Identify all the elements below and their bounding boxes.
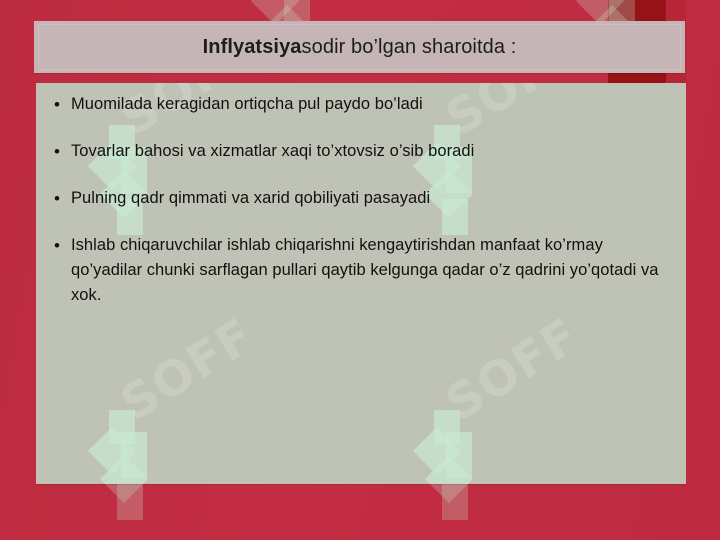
title-emphasis: Inflyatsiya [203,36,302,59]
page-title: Inflyatsiya sodir bo’lgan sharoitda : [34,21,685,73]
bullet-marker-icon: • [46,92,71,117]
list-item: • Tovarlar bahosi va xizmatlar xaqi to’x… [46,139,672,164]
list-item-text: Pulning qadr qimmati va xarid qobiliyati… [71,186,672,211]
soff-logo-icon [420,410,494,484]
title-rest: sodir bo’lgan sharoitda : [302,36,517,59]
bullet-marker-icon: • [46,233,71,258]
watermark-text: SOFF [436,308,589,432]
list-item: • Muomilada keragidan ortiqcha pul paydo… [46,92,672,117]
list-item-text: Tovarlar bahosi va xizmatlar xaqi to’xto… [71,139,672,164]
watermark-mark: SOFF [420,380,550,484]
slide-canvas: SOFF SOFF SOFF SOFF Inflyatsiya sodir bo… [0,0,720,540]
bullet-list: • Muomilada keragidan ortiqcha pul paydo… [36,83,686,308]
soff-logo-icon [95,410,169,484]
bullet-marker-icon: • [46,186,71,211]
list-item: • Ishlab chiqaruvchilar ishlab chiqarish… [46,233,672,308]
watermark-text: SOFF [111,308,264,432]
list-item-text: Muomilada keragidan ortiqcha pul paydo b… [71,92,672,117]
list-item: • Pulning qadr qimmati va xarid qobiliya… [46,186,672,211]
slide-content-plate: SOFF SOFF SOFF SOFF [36,83,686,484]
list-item-text: Ishlab chiqaruvchilar ishlab chiqarishni… [71,233,672,308]
slide-title-plate: Inflyatsiya sodir bo’lgan sharoitda : [34,21,685,73]
watermark-mark: SOFF [95,380,225,484]
bullet-marker-icon: • [46,139,71,164]
